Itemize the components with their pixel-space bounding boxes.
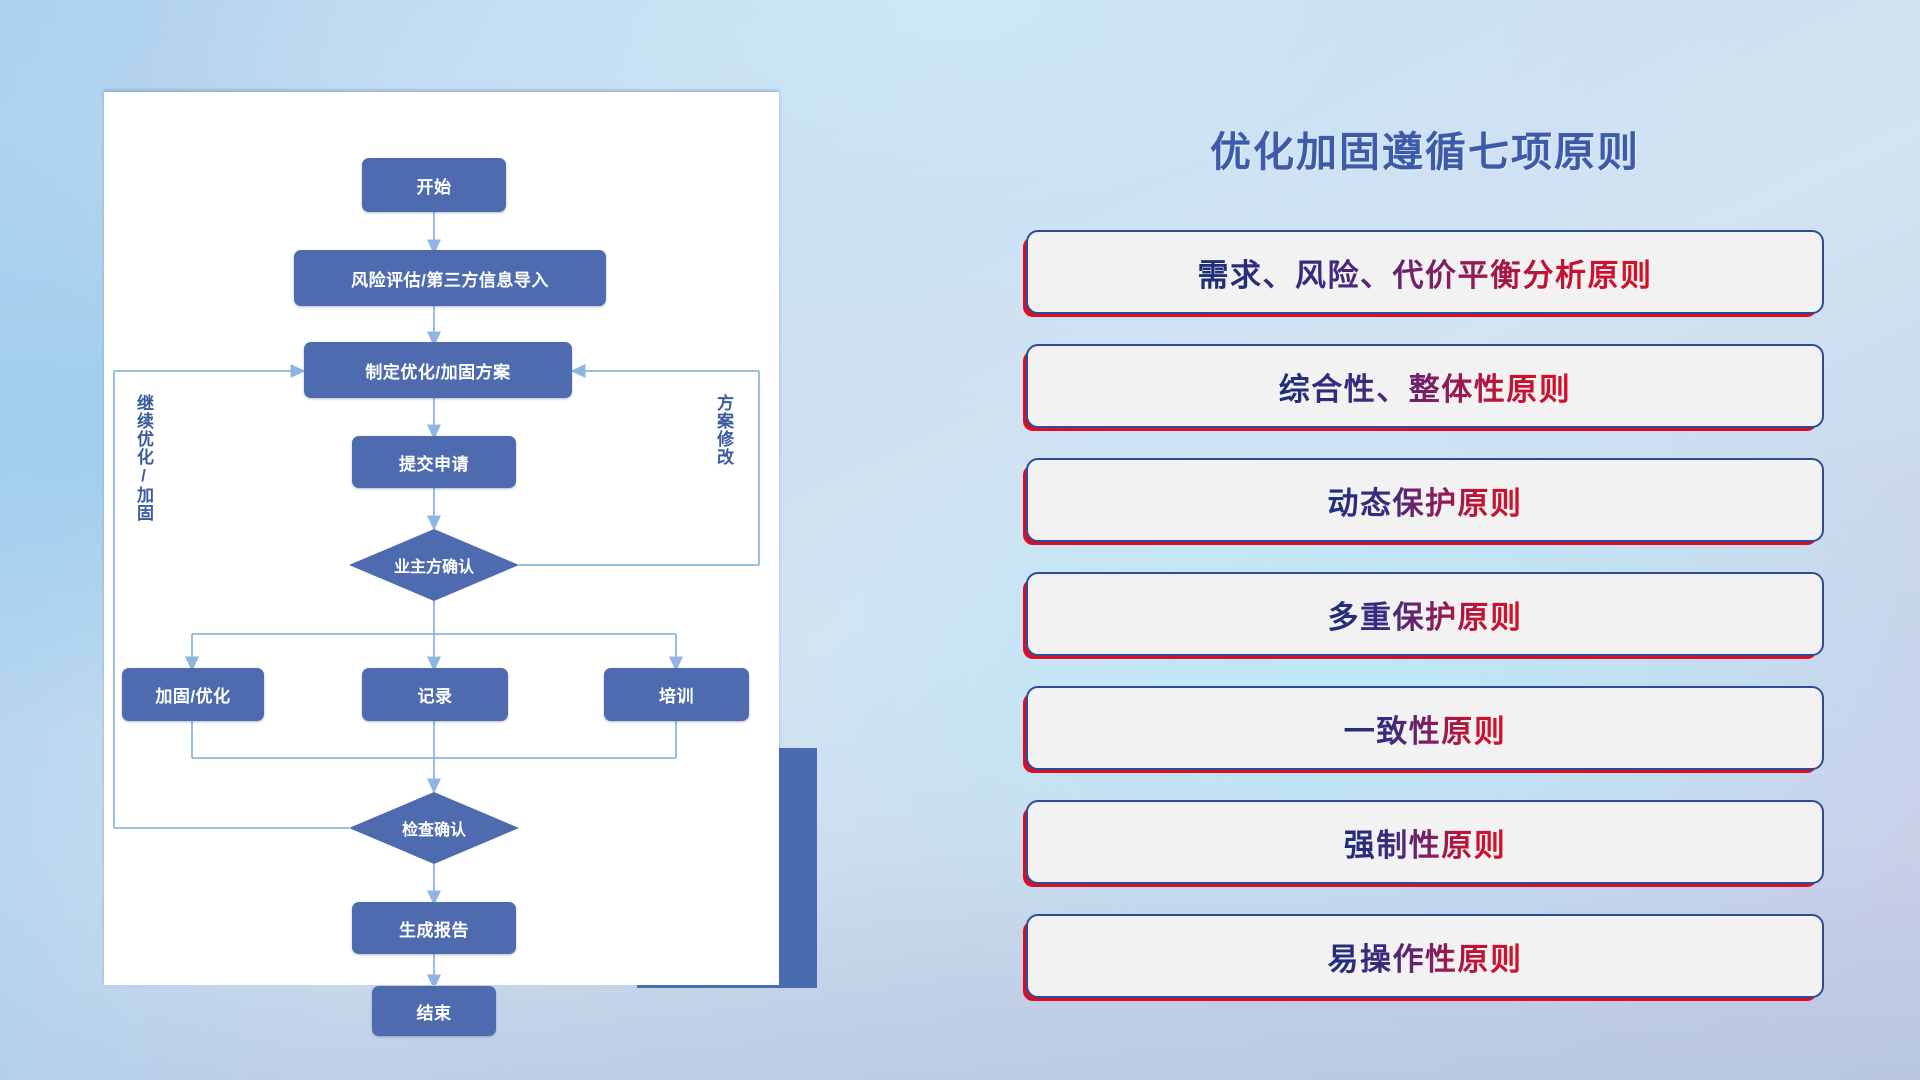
flow-node-submit-label: 提交申请 — [399, 450, 469, 475]
principle-card-7-label: 易操作性原则 — [1328, 934, 1523, 979]
principle-card-7[interactable]: 易操作性原则 — [1026, 914, 1824, 998]
principle-card-5[interactable]: 一致性原则 — [1026, 686, 1824, 770]
flow-node-check-confirm-label: 检查确认 — [402, 816, 466, 840]
flow-node-owner-confirm-label: 业主方确认 — [394, 553, 474, 577]
flow-node-end-label: 结束 — [417, 999, 452, 1024]
flow-node-risk-assessment-label: 风险评估/第三方信息导入 — [351, 266, 549, 291]
flowchart-card: 开始 风险评估/第三方信息导入 制定优化/加固方案 提交申请 业主方确认 加固/… — [104, 92, 779, 985]
principle-card-1[interactable]: 需求、风险、代价平衡分析原则 — [1026, 230, 1824, 314]
flow-node-check-confirm[interactable]: 检查确认 — [349, 792, 519, 864]
flow-node-owner-confirm[interactable]: 业主方确认 — [349, 529, 519, 601]
flow-node-report[interactable]: 生成报告 — [352, 902, 516, 954]
flow-node-reinforce-label: 加固/优化 — [155, 682, 230, 707]
principles-card-list: 需求、风险、代价平衡分析原则 综合性、整体性原则 动态保护原则 多重保护原则 一… — [1026, 230, 1824, 1028]
principle-card-3[interactable]: 动态保护原则 — [1026, 458, 1824, 542]
flow-node-record-label: 记录 — [418, 682, 453, 707]
flow-node-training-label: 培训 — [659, 682, 694, 707]
flow-side-label-plan-revision: 方案修改 — [714, 394, 732, 466]
principle-card-1-label: 需求、风险、代价平衡分析原则 — [1198, 250, 1653, 295]
flow-node-submit[interactable]: 提交申请 — [352, 436, 516, 488]
flow-node-report-label: 生成报告 — [399, 916, 469, 941]
flow-node-plan[interactable]: 制定优化/加固方案 — [304, 342, 572, 398]
principle-card-2-label: 综合性、整体性原则 — [1279, 364, 1572, 409]
flow-side-label-continue-optimize: 继续优化/加固 — [134, 394, 152, 522]
principle-card-4[interactable]: 多重保护原则 — [1026, 572, 1824, 656]
principle-card-4-label: 多重保护原则 — [1328, 592, 1523, 637]
flow-node-start-label: 开始 — [417, 173, 452, 198]
principle-card-3-label: 动态保护原则 — [1328, 478, 1523, 523]
flow-node-reinforce[interactable]: 加固/优化 — [122, 668, 264, 721]
principle-card-2[interactable]: 综合性、整体性原则 — [1026, 344, 1824, 428]
principle-card-6-label: 强制性原则 — [1344, 820, 1507, 865]
principle-card-6[interactable]: 强制性原则 — [1026, 800, 1824, 884]
flow-node-end[interactable]: 结束 — [372, 986, 496, 1036]
principle-card-5-label: 一致性原则 — [1344, 706, 1507, 751]
flow-node-start[interactable]: 开始 — [362, 158, 506, 212]
flow-node-plan-label: 制定优化/加固方案 — [365, 358, 510, 383]
flow-node-record[interactable]: 记录 — [362, 668, 508, 721]
principles-panel: 优化加固遵循七项原则 需求、风险、代价平衡分析原则 综合性、整体性原则 动态保护… — [1010, 90, 1840, 1020]
flow-node-training[interactable]: 培训 — [604, 668, 749, 721]
flow-node-risk-assessment[interactable]: 风险评估/第三方信息导入 — [294, 250, 606, 306]
principles-panel-title: 优化加固遵循七项原则 — [1010, 118, 1840, 178]
